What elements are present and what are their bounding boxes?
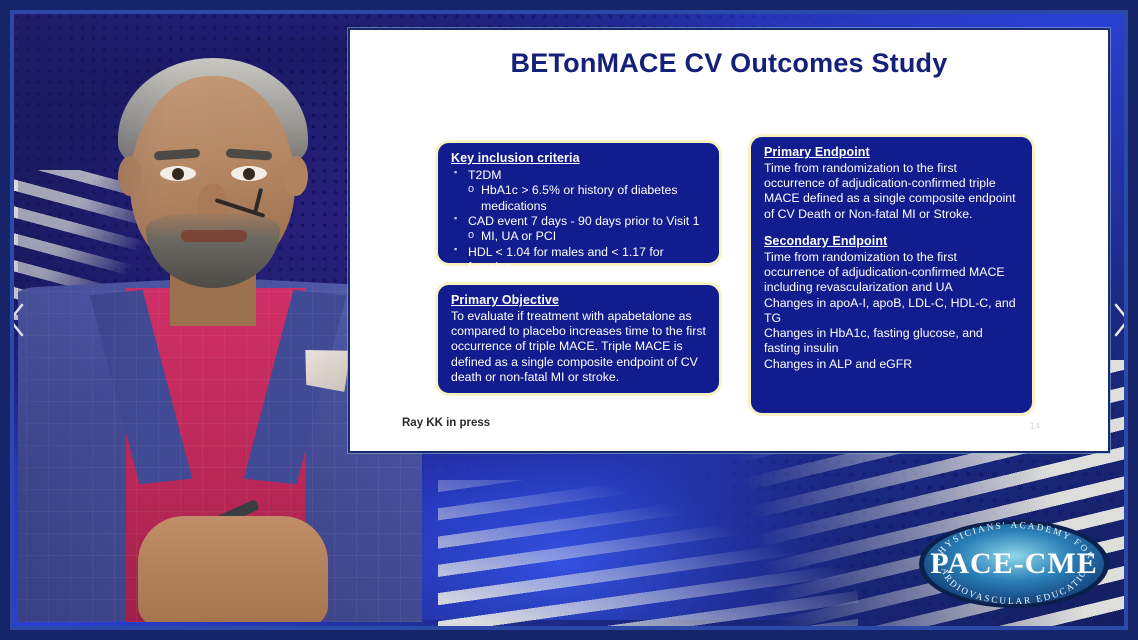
sub-list: HbA1c > 6.5% or history of diabetes medi…: [468, 183, 708, 214]
list-item: T2DM HbA1c > 6.5% or history of diabetes…: [451, 168, 708, 214]
list-item: CAD event 7 days - 90 days prior to Visi…: [451, 214, 708, 245]
list-item: MI, UA or PCI: [468, 229, 708, 244]
slide-title: BETonMACE CV Outcomes Study: [350, 48, 1108, 79]
secondary-endpoint-line: Changes in apoA-I, apoB, LDL-C, HDL-C, a…: [764, 296, 1021, 326]
endpoints-box: Primary Endpoint Time from randomization…: [748, 134, 1035, 416]
box-heading: Secondary Endpoint: [764, 234, 1021, 248]
pace-cme-logo: PHYSICIANS' ACADEMY FOR CARDIOVASCULAR E…: [916, 518, 1112, 610]
primary-endpoint-text: Time from randomization to the first occ…: [764, 161, 1021, 222]
criterion-text: CAD event 7 days - 90 days prior to Visi…: [468, 214, 699, 228]
box-heading: Key inclusion criteria: [451, 151, 708, 165]
secondary-endpoint-line: Changes in HbA1c, fasting glucose, and f…: [764, 326, 1021, 356]
video-player: BETonMACE CV Outcomes Study Key inclusio…: [0, 0, 1138, 640]
next-slide-button[interactable]: [1108, 299, 1134, 341]
primary-objective-box: Primary Objective To evaluate if treatme…: [435, 282, 722, 396]
list-item: HbA1c > 6.5% or history of diabetes medi…: [468, 183, 708, 214]
inclusion-criteria-list: T2DM HbA1c > 6.5% or history of diabetes…: [451, 168, 708, 276]
slide-panel: BETonMACE CV Outcomes Study Key inclusio…: [348, 28, 1110, 453]
secondary-endpoint-line: Time from randomization to the first occ…: [764, 250, 1021, 296]
chevron-left-icon: [10, 305, 22, 335]
objective-text: To evaluate if treatment with apabetalon…: [451, 309, 708, 385]
criterion-text: T2DM: [468, 168, 501, 182]
slide-number: 14: [1030, 421, 1040, 431]
list-item: HDL < 1.04 for males and < 1.17 for fema…: [451, 245, 708, 276]
logo-wordmark: PACE-CME: [930, 547, 1097, 580]
spacer: [764, 222, 1021, 234]
secondary-endpoint-line: Changes in ALP and eGFR: [764, 357, 1021, 372]
previous-slide-button[interactable]: [4, 299, 30, 341]
sub-list: MI, UA or PCI: [468, 229, 708, 244]
key-inclusion-criteria-box: Key inclusion criteria T2DM HbA1c > 6.5%…: [435, 140, 722, 266]
chevron-right-icon: [1116, 305, 1128, 335]
citation: Ray KK in press: [402, 417, 490, 429]
box-heading: Primary Objective: [451, 293, 708, 307]
box-heading: Primary Endpoint: [764, 145, 1021, 159]
slide-content: BETonMACE CV Outcomes Study Key inclusio…: [350, 30, 1108, 451]
diagonal-stripes-right-lower: [438, 480, 858, 640]
